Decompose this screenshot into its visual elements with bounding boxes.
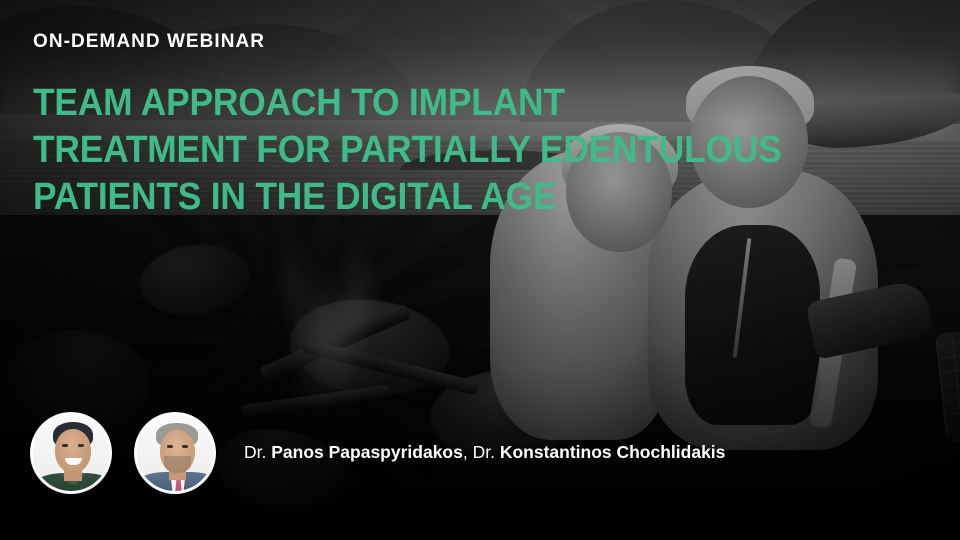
title-line-1: TEAM APPROACH TO IMPLANT [33, 80, 684, 127]
byline-part-name-1: Panos Papaspyridakos [271, 442, 463, 462]
beard [164, 456, 191, 473]
eyebrow-label: ON-DEMAND WEBINAR [33, 31, 265, 53]
byline-part-prefix-1: Dr. [244, 442, 271, 462]
presenter-byline: Dr. Panos Papaspyridakos, Dr. Konstantin… [244, 444, 725, 462]
slide-content: ON-DEMAND WEBINAR TEAM APPROACH TO IMPLA… [0, 0, 960, 540]
title-line-2: TREATMENT FOR PARTIALLY EDENTULOUS [33, 127, 684, 174]
presenters-row: Dr. Panos Papaspyridakos, Dr. Konstantin… [30, 412, 725, 494]
title-line-3: PATIENTS IN THE DIGITAL AGE [33, 174, 684, 221]
eye [167, 445, 173, 448]
eye [182, 445, 188, 448]
avatar [134, 412, 216, 494]
byline-part-prefix-2: , Dr. [463, 442, 500, 462]
page-title: TEAM APPROACH TO IMPLANT TREATMENT FOR P… [33, 80, 684, 221]
avatar [30, 412, 112, 494]
eye [78, 444, 84, 447]
face [55, 429, 91, 473]
byline-part-name-2: Konstantinos Chochlidakis [500, 442, 726, 462]
eye [62, 444, 68, 447]
webinar-promo-slide: ON-DEMAND WEBINAR TEAM APPROACH TO IMPLA… [0, 0, 960, 540]
